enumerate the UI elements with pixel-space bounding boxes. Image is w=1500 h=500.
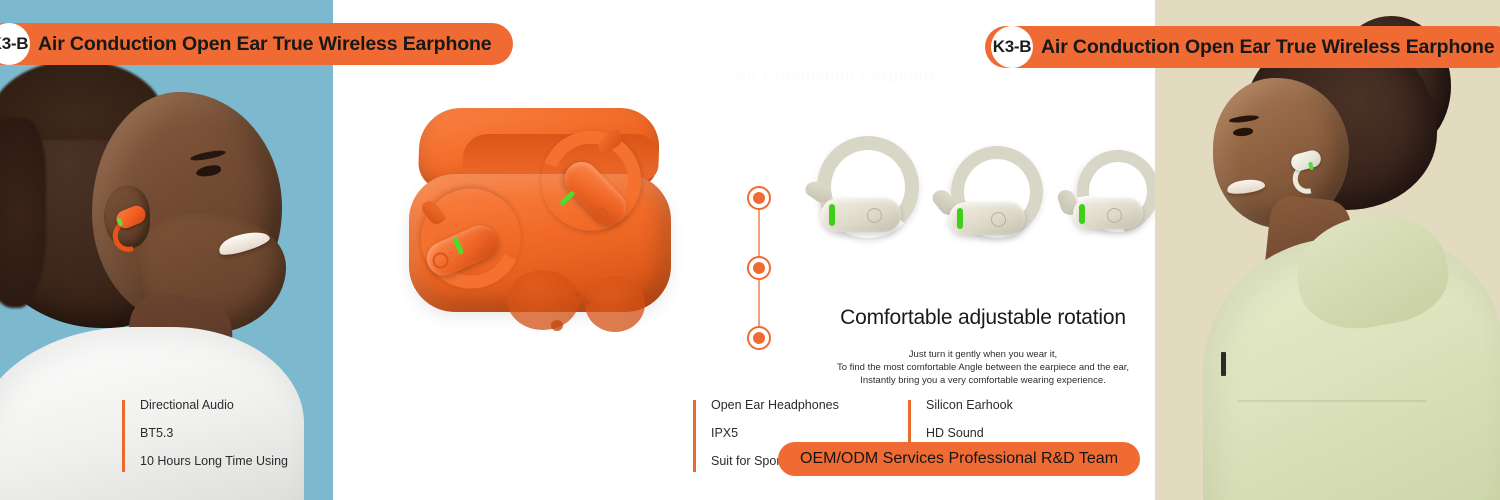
case-pin-dot (585, 300, 590, 305)
title-pill-left: K3-B Air Conduction Open Ear True Wirele… (0, 23, 513, 65)
feature-list: Directional Audio BT5.3 10 Hours Long Ti… (140, 398, 288, 468)
feature-item: Open Ear Headphones (711, 398, 839, 412)
rotation-step-timeline (747, 186, 771, 350)
orange-earbud-worn-icon (112, 206, 148, 233)
rotation-description-line-2: To find the most comfortable Angle betwe… (793, 361, 1155, 374)
feature-item: HD Sound (926, 426, 1055, 440)
feature-accent-bar (693, 400, 696, 472)
feature-item: BT5.3 (140, 426, 288, 440)
feature-item: 10 Hours Long Time Using (140, 454, 288, 468)
feature-accent-bar (122, 400, 125, 472)
rotation-heading: Comfortable adjustable rotation (803, 306, 1155, 330)
feature-column-1: Directional Audio BT5.3 10 Hours Long Ti… (122, 398, 288, 472)
watermark-text: Air Conduction Earphone (735, 66, 939, 86)
earbud-led-indicator (957, 208, 963, 229)
timeline-dot-1-icon (747, 186, 771, 210)
rotation-description-line-1: Just turn it gently when you wear it, (793, 348, 1155, 361)
orange-earbud-left-icon (413, 184, 521, 292)
case-button-dot (551, 320, 563, 331)
case-cavity-left (507, 270, 579, 330)
title-pill-right: K3-B Air Conduction Open Ear True Wirele… (985, 26, 1500, 68)
orange-earbud-right-icon (526, 127, 632, 233)
right-lifestyle-panel (1155, 0, 1500, 500)
feature-item: Directional Audio (140, 398, 288, 412)
model-badge-left: K3-B (0, 23, 30, 65)
timeline-dot-2-icon (747, 256, 771, 280)
white-earbud-worn-icon (1289, 152, 1323, 178)
rotation-earbud-row (803, 132, 1153, 256)
earbud-touch-button (867, 208, 882, 223)
charging-case-illustration (401, 108, 671, 313)
oem-odm-badge: OEM/ODM Services Professional R&D Team (778, 442, 1140, 476)
timeline-dot-3-icon (747, 326, 771, 350)
oem-odm-label: OEM/ODM Services Professional R&D Team (800, 450, 1118, 468)
feature-item: Silicon Earhook (926, 398, 1055, 412)
rotation-description: Just turn it gently when you wear it, To… (793, 348, 1155, 387)
product-banner: Air Conduction Earphone (0, 0, 1500, 500)
title-text-right: Air Conduction Open Ear True Wireless Ea… (1041, 36, 1494, 59)
title-text-left: Air Conduction Open Ear True Wireless Ea… (38, 33, 491, 56)
case-cavity-right (585, 276, 645, 332)
earbud-touch-button (1107, 208, 1122, 223)
earbud-led-indicator (829, 204, 835, 226)
earbud-touch-button (991, 212, 1006, 227)
earbud-hook (1061, 134, 1155, 249)
hoodie-print-detail (1221, 352, 1226, 376)
center-product-panel: Air Conduction Earphone (333, 0, 1155, 500)
case-pin-dot (575, 292, 580, 297)
feature-item: IPX5 (711, 426, 839, 440)
model-badge-right: K3-B (991, 26, 1033, 68)
rotation-description-line-3: Instantly bring you a very comfortable w… (793, 374, 1155, 387)
hoodie-seam-detail (1237, 400, 1427, 402)
earbud-led-indicator (1079, 204, 1085, 224)
